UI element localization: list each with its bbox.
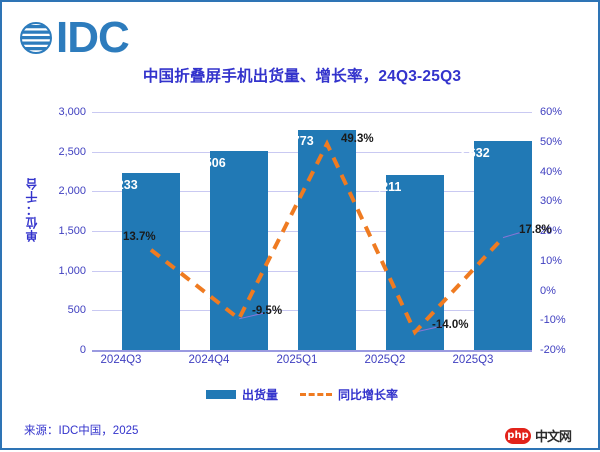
y-left-tick: 3,000 [28, 106, 86, 118]
legend-item-growth-rate[interactable]: 同比增长率 [300, 386, 398, 403]
bar-value-label: 2,211 [351, 180, 421, 194]
y-left-tick: 2,500 [28, 146, 86, 158]
bar-value-label: 2,632 [439, 146, 509, 160]
bar-value-label: 2,773 [263, 134, 333, 148]
idc-wordmark: IDC [56, 16, 129, 60]
y-right-tick: 30% [540, 195, 596, 207]
y-right-tick: -20% [540, 344, 596, 356]
bar-2024Q3[interactable] [122, 173, 180, 350]
source-note: 来源：IDC中国，2025 [24, 422, 138, 438]
chart-figure: IDC 中国折叠屏手机出货量、增长率，24Q3-25Q3 单位：千台 3,000… [0, 0, 600, 450]
php-badge-icon: php [505, 428, 531, 444]
y-right-tick: 40% [540, 166, 596, 178]
bar-2025Q1[interactable] [298, 130, 356, 350]
x-axis-tick-2025Q3: 2025Q3 [429, 354, 517, 366]
x-axis-tick-2024Q4: 2024Q4 [165, 354, 253, 366]
chart-title: 中国折叠屏手机出货量、增长率，24Q3-25Q3 [2, 64, 600, 86]
y-right-tick: 10% [540, 255, 596, 267]
bar-value-label: 2,506 [175, 156, 245, 170]
growth-label-2025Q2: -14.0% [432, 319, 468, 331]
legend-bar-label: 出货量 [242, 386, 278, 403]
growth-label-2024Q4: -9.5% [252, 305, 282, 317]
y-right-tick: -10% [540, 314, 596, 326]
idc-logo: IDC [19, 15, 129, 61]
y-right-tick: 60% [540, 106, 596, 118]
watermark-text: 中文网 [535, 426, 571, 445]
legend-line-swatch-icon [300, 393, 332, 396]
legend-item-shipments[interactable]: 出货量 [206, 386, 278, 403]
idc-globe-icon [19, 21, 53, 55]
growth-label-2025Q1: 49.3% [341, 133, 374, 145]
y-left-tick: 1,000 [28, 265, 86, 277]
growth-label-2024Q3: 13.7% [123, 231, 156, 243]
growth-label-2025Q3: 17.8% [519, 224, 552, 236]
y-left-tick: 1,500 [28, 225, 86, 237]
x-axis-tick-2025Q2: 2025Q2 [341, 354, 429, 366]
legend-line-label: 同比增长率 [338, 386, 398, 403]
bar-2025Q3[interactable] [474, 141, 532, 350]
y-left-tick: 2,000 [28, 185, 86, 197]
y-right-tick: 50% [540, 136, 596, 148]
bar-value-label: 2,233 [87, 178, 157, 192]
x-axis-line [92, 350, 532, 352]
gridline [92, 112, 532, 113]
legend-bar-swatch-icon [206, 390, 236, 399]
y-left-tick: 500 [28, 304, 86, 316]
chart-legend: 出货量 同比增长率 [2, 386, 600, 403]
watermark: php 中文网 [505, 426, 571, 445]
x-axis-tick-2025Q1: 2025Q1 [253, 354, 341, 366]
bar-2024Q4[interactable] [210, 151, 268, 350]
y-right-tick: 0% [540, 285, 596, 297]
x-axis-tick-2024Q3: 2024Q3 [77, 354, 165, 366]
